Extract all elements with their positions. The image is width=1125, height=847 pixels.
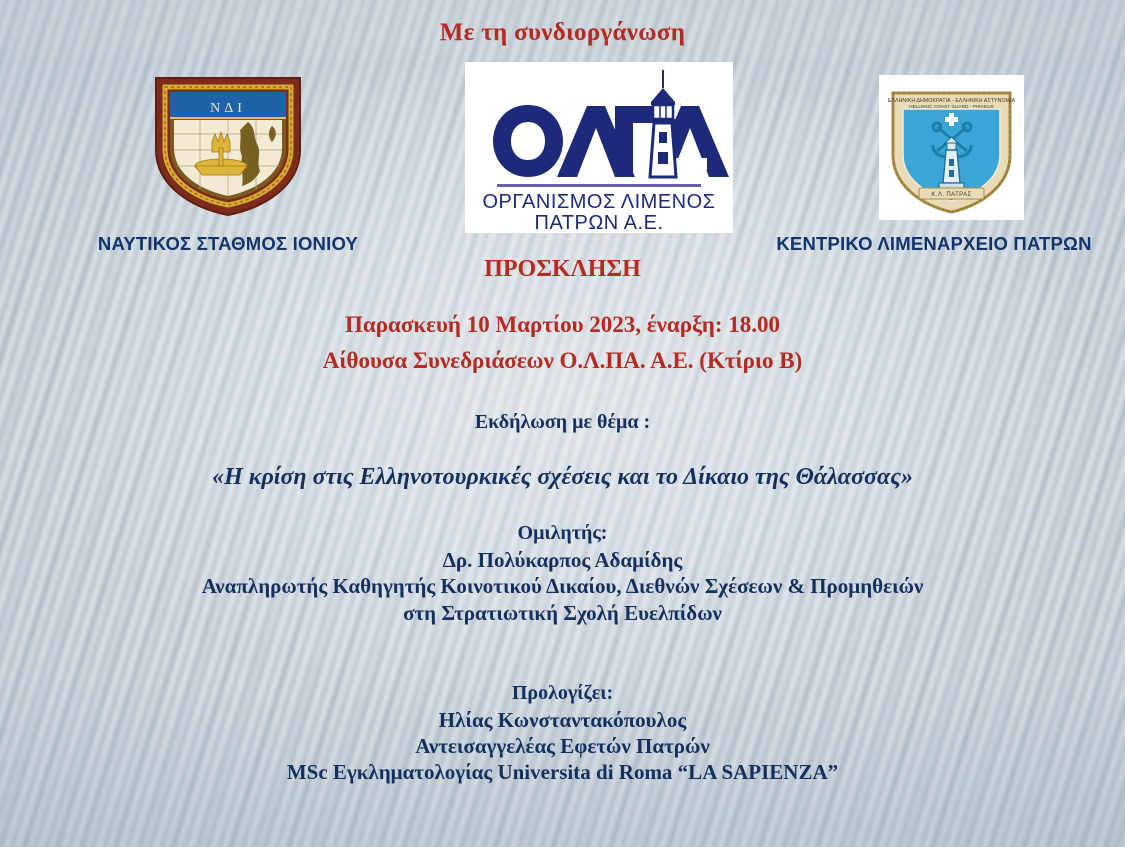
introducer-title: Αντεισαγγελέας Εφετών Πατρών bbox=[0, 734, 1125, 759]
speaker-institution: στη Στρατιωτική Σχολή Ευελπίδων bbox=[0, 601, 1125, 626]
event-topic-title: «Η κρίση στις Ελληνοτουρκικές σχέσεις κα… bbox=[0, 464, 1125, 491]
patras-port-authority-caption: ΚΕΝΤΡΙΚΟ ΛΙΜΕΝΑΡΧΕΙΟ ΠΑΤΡΩΝ bbox=[760, 233, 1108, 255]
speaker-label: Ομιλητής: bbox=[0, 522, 1125, 545]
speaker-rank: Αναπληρωτής Καθηγητής Κοινοτικού Δικαίου… bbox=[0, 574, 1125, 599]
event-venue-line: Αίθουσα Συνεδριάσεων Ο.Λ.ΠΑ. Α.Ε. (Κτίρι… bbox=[0, 348, 1125, 374]
patras-port-authority-logo: ΕΛΛΗΝΙΚΗ ΔΗΜΟΚΡΑΤΙΑ - ΕΛΛΗΝΙΚΗ ΑΣΤΥΝΟΜΙΑ… bbox=[879, 75, 1024, 220]
patras-emblem-bottom-text: Κ.Λ. ΠΑΤΡΑΣ bbox=[931, 192, 971, 198]
patras-emblem-top-line2: HELLENIC COAST GUARD - PIRAEUS bbox=[909, 104, 994, 109]
introducer-degree: MSc Εγκληματολογίας Universita di Roma “… bbox=[0, 760, 1125, 785]
page-title: ΠΡΟΣΚΛΗΣΗ bbox=[0, 256, 1125, 283]
olpa-port-authority-logo: ΟΡΓΑΝΙΣΜΟΣ ΛΙΜΕΝΟΣ ΠΑΤΡΩΝ Α.Ε. bbox=[465, 62, 733, 233]
olpa-subtitle-line1: ΟΡΓΑΝΙΣΜΟΣ ΛΙΜΕΝΟΣ bbox=[482, 191, 715, 213]
speaker-name: Δρ. Πολύκαρπος Αδαμίδης bbox=[0, 548, 1125, 573]
naval-station-ionian-logo: ΝΔΙ bbox=[152, 74, 304, 219]
event-topic-label: Εκδήλωση με θέμα : bbox=[0, 411, 1125, 434]
event-date-line: Παρασκευή 10 Μαρτίου 2023, έναρξη: 18.00 bbox=[0, 312, 1125, 338]
olpa-subtitle-line2: ΠΑΤΡΩΝ Α.Ε. bbox=[535, 212, 664, 233]
invitation-poster: Με τη συνδιοργάνωση ΝΔΙ bbox=[0, 0, 1125, 847]
naval-emblem-text: ΝΔΙ bbox=[210, 101, 246, 116]
coorganization-label: Με τη συνδιοργάνωση bbox=[0, 19, 1125, 47]
introducer-name: Ηλίας Κωνσταντακόπουλος bbox=[0, 708, 1125, 733]
introducer-label: Προλογίζει: bbox=[0, 682, 1125, 705]
naval-station-ionian-caption: ΝΑΥΤΙΚΟΣ ΣΤΑΘΜΟΣ ΙΟΝΙΟΥ bbox=[58, 233, 398, 255]
